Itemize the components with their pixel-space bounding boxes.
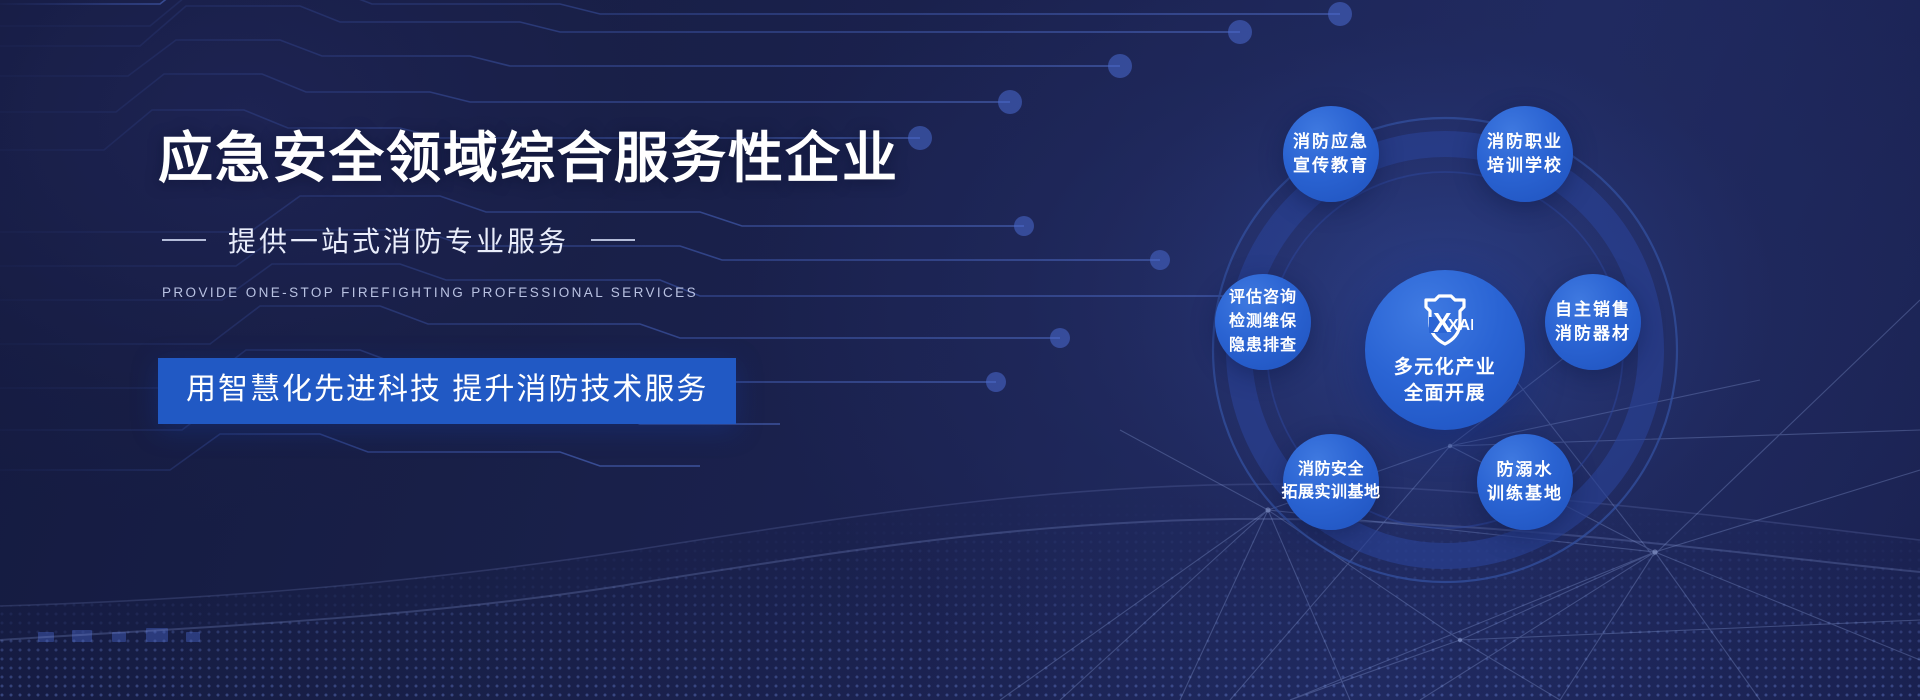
cta-button[interactable]: 用智慧化先进科技 提升消防技术服务 (158, 358, 736, 424)
hero-banner: 应急安全领域综合服务性企业 提供一站式消防专业服务 PROVIDE ONE-ST… (0, 0, 1920, 700)
rule-left-icon (162, 239, 206, 241)
node-label-line: 评估咨询 (1229, 286, 1297, 310)
diagram-center-node[interactable]: X XAN 多元化产业 全面开展 (1365, 270, 1525, 430)
diagram-node-drowning-prevention-base[interactable]: 防溺水 训练基地 (1477, 434, 1573, 530)
diagram-node-fire-emergency-education[interactable]: 消防应急 宣传教育 (1283, 106, 1379, 202)
page-title: 应急安全领域综合服务性企业 (158, 128, 918, 190)
node-label-line: 消防职业 (1487, 130, 1563, 154)
node-label-line: 防溺水 (1497, 458, 1554, 482)
shield-xan-logo-icon: X XAN (1417, 293, 1473, 351)
node-label-line: 消防器材 (1555, 322, 1631, 346)
center-label-line-2: 全面开展 (1404, 381, 1486, 407)
node-label-line: 培训学校 (1487, 154, 1563, 178)
subtitle-row: 提供一站式消防专业服务 (158, 220, 918, 260)
rule-right-icon (591, 239, 635, 241)
node-label-line: 检测维保 (1229, 310, 1297, 334)
center-label-line-1: 多元化产业 (1394, 355, 1497, 381)
node-label-line: 隐患排查 (1229, 334, 1297, 358)
diagram-node-equipment-sales[interactable]: 自主销售 消防器材 (1545, 274, 1641, 370)
hero-copy: 应急安全领域综合服务性企业 提供一站式消防专业服务 PROVIDE ONE-ST… (158, 128, 918, 424)
node-label-line: 自主销售 (1555, 298, 1631, 322)
node-label-line: 消防安全 (1298, 459, 1364, 482)
services-diagram: X XAN 多元化产业 全面开展 消防应急 宣传教育 消防职业 培训学校 评估咨… (1135, 60, 1755, 640)
node-label-line: 消防应急 (1293, 130, 1369, 154)
diagram-node-safety-training-base[interactable]: 消防安全 拓展实训基地 (1283, 434, 1379, 530)
node-label-line: 拓展实训基地 (1282, 482, 1381, 505)
node-label-line: 训练基地 (1487, 482, 1563, 506)
diagram-node-assessment-inspection[interactable]: 评估咨询 检测维保 隐患排查 (1215, 274, 1311, 370)
node-label-line: 宣传教育 (1293, 154, 1369, 178)
svg-text:XAN: XAN (1448, 317, 1473, 334)
page-subtitle: 提供一站式消防专业服务 (228, 220, 569, 260)
diagram-node-vocational-training-school[interactable]: 消防职业 培训学校 (1477, 106, 1573, 202)
english-tagline: PROVIDE ONE-STOP FIREFIGHTING PROFESSION… (158, 285, 918, 300)
